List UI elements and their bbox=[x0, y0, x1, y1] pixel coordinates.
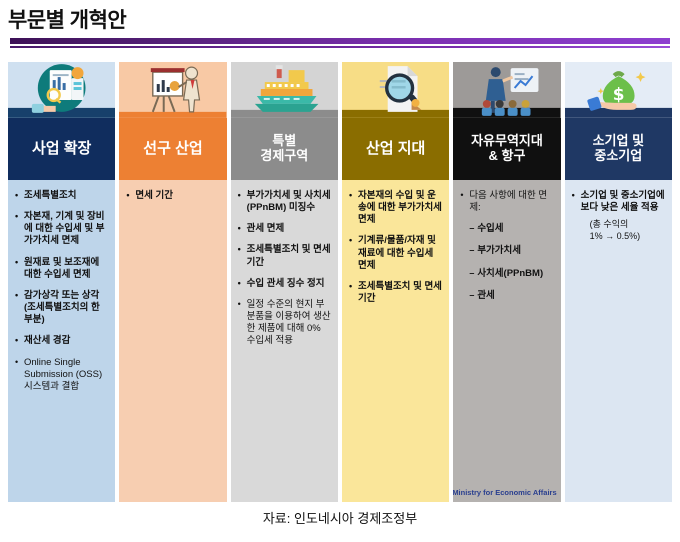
money-bag-hand-icon: $ bbox=[565, 62, 672, 118]
presenter-audience-icon bbox=[453, 62, 560, 118]
column-free-trade-zone-port[interactable]: 자유무역지대 & 항구 •다음 사항에 대한 면제: –수입세 –부가가치세 –… bbox=[453, 62, 560, 502]
list-item: •기계류/물품/자재 및 재료에 대한 수입세 면제 bbox=[349, 235, 442, 271]
column-industrial-zone[interactable]: 산업 지대 •자본재의 수입 및 운송에 대한 부가가치세 면제 •기계류/물품… bbox=[342, 62, 449, 502]
bullet-dot: • bbox=[15, 357, 24, 393]
bullet-dot: • bbox=[15, 257, 24, 281]
column-small-medium-enterprise[interactable]: $ 소기업 및 중소기업 •소기업 및 중소기업에 보다 낮은 세율 적용 (총… bbox=[565, 62, 672, 502]
list-item-text: 부가가치세 bbox=[477, 245, 553, 257]
column-header-business-expansion: 사업 확장 bbox=[8, 118, 115, 180]
column-special-economic-zone[interactable]: 특별 경제구역 •부가가치세 및 사치세(PPnBM) 미징수 •관세 면제 •… bbox=[231, 62, 338, 502]
columns-container: 사업 확장 •조세특별조치 •자본재, 기계 및 장비에 대한 수입세 및 부가… bbox=[8, 62, 672, 502]
svg-text:$: $ bbox=[612, 84, 624, 104]
list-item-text: 조세특별조치 및 면세 기간 bbox=[247, 244, 331, 268]
list-item-text: 다음 사항에 대한 면제: bbox=[469, 190, 553, 214]
list-item: •다음 사항에 대한 면제: bbox=[460, 190, 553, 214]
bullet-dot: • bbox=[15, 211, 24, 247]
list-item: –사치세(PPnBM) bbox=[469, 268, 553, 280]
column-body-industrial-zone: •자본재의 수입 및 운송에 대한 부가가치세 면제 •기계류/물품/자재 및 … bbox=[342, 180, 449, 502]
bullet-dot: • bbox=[15, 190, 24, 202]
column-header-industrial-zone: 산업 지대 bbox=[342, 118, 449, 180]
column-body-free-trade-zone-port: •다음 사항에 대한 면제: –수입세 –부가가치세 –사치세(PPnBM) –… bbox=[453, 180, 560, 502]
list-item: •조세특별조치 및 면세 기간 bbox=[349, 281, 442, 305]
column-header-pioneer-industry: 선구 산업 bbox=[119, 118, 226, 180]
source-note: Source: Coordinating Ministry for Econom… bbox=[453, 488, 556, 497]
list-item: •면세 기간 bbox=[126, 190, 219, 202]
column-header-small-medium-enterprise: 소기업 및 중소기업 bbox=[565, 118, 672, 180]
bullet-dot: • bbox=[238, 244, 247, 268]
list-item: •재산세 경감 bbox=[15, 335, 108, 347]
list-item-text: 수입 관세 징수 정지 bbox=[247, 278, 331, 290]
bullet-dot: • bbox=[349, 281, 358, 305]
list-item: •자본재의 수입 및 운송에 대한 부가가치세 면제 bbox=[349, 190, 442, 226]
column-pioneer-industry[interactable]: 선구 산업 •면세 기간 bbox=[119, 62, 226, 502]
list-item-text: 소기업 및 중소기업에 보다 낮은 세율 적용 bbox=[581, 190, 665, 214]
list-item-text: 자본재, 기계 및 장비에 대한 수입세 및 부가가치세 면제 bbox=[24, 211, 108, 247]
presentation-easel-icon bbox=[119, 62, 226, 118]
column-header-free-trade-zone-port: 자유무역지대 & 항구 bbox=[453, 118, 560, 180]
list-item-text: 원재료 및 보조재에 대한 수입세 면제 bbox=[24, 257, 108, 281]
list-item: •조세특별조치 및 면세 기간 bbox=[238, 244, 331, 268]
column-body-special-economic-zone: •부가가치세 및 사치세(PPnBM) 미징수 •관세 면제 •조세특별조치 및… bbox=[231, 180, 338, 502]
dash-bullet: – bbox=[469, 223, 477, 235]
title-divider-thin bbox=[10, 46, 670, 48]
bullet-dot: • bbox=[572, 190, 581, 214]
bullet-dot: • bbox=[238, 190, 247, 214]
bullet-dot: • bbox=[15, 335, 24, 347]
column-business-expansion[interactable]: 사업 확장 •조세특별조치 •자본재, 기계 및 장비에 대한 수입세 및 부가… bbox=[8, 62, 115, 502]
list-item: •감가상각 또는 상각(조세특별조치의 한 부분) bbox=[15, 290, 108, 326]
list-item-text: 수입세 bbox=[477, 223, 553, 235]
list-item-text: 사치세(PPnBM) bbox=[477, 268, 553, 280]
list-item-text: Online Single Submission (OSS) 시스템과 결합 bbox=[24, 357, 108, 393]
bullet-dot: • bbox=[238, 278, 247, 290]
dash-bullet: – bbox=[469, 245, 477, 257]
bullet-dot: • bbox=[238, 299, 247, 348]
list-item: •소기업 및 중소기업에 보다 낮은 세율 적용 bbox=[572, 190, 665, 214]
list-item: •조세특별조치 bbox=[15, 190, 108, 202]
dash-bullet: – bbox=[469, 268, 477, 280]
document-magnifier-icon bbox=[342, 62, 449, 118]
business-analytics-icon bbox=[8, 62, 115, 118]
list-item-text: 부가가치세 및 사치세(PPnBM) 미징수 bbox=[247, 190, 331, 214]
bullet-dot: • bbox=[238, 223, 247, 235]
list-item: •원재료 및 보조재에 대한 수입세 면제 bbox=[15, 257, 108, 281]
list-item-text: 자본재의 수입 및 운송에 대한 부가가치세 면제 bbox=[358, 190, 442, 226]
list-item-text: 관세 면제 bbox=[247, 223, 331, 235]
title-divider-thick bbox=[10, 38, 670, 44]
list-item-text: 일정 수준의 현지 부분품을 이용하여 생산한 제품에 대해 0% 수입세 적용 bbox=[247, 299, 331, 348]
list-item: •수입 관세 징수 정지 bbox=[238, 278, 331, 290]
figure-caption: 자료: 인도네시아 경제조정부 bbox=[0, 508, 680, 527]
cargo-ship-icon bbox=[231, 62, 338, 118]
list-item-text: 조세특별조치 및 면세 기간 bbox=[358, 281, 442, 305]
column-header-special-economic-zone: 특별 경제구역 bbox=[231, 118, 338, 180]
rate-change-note: (총 수익의 1% → 0.5%) bbox=[590, 219, 665, 242]
list-item: •자본재, 기계 및 장비에 대한 수입세 및 부가가치세 면제 bbox=[15, 211, 108, 247]
list-item-text: 관세 bbox=[477, 290, 553, 302]
list-item-text: 재산세 경감 bbox=[24, 335, 108, 347]
column-body-pioneer-industry: •면세 기간 bbox=[119, 180, 226, 502]
list-item: •일정 수준의 현지 부분품을 이용하여 생산한 제품에 대해 0% 수입세 적… bbox=[238, 299, 331, 348]
list-item: –관세 bbox=[469, 290, 553, 302]
title-divider bbox=[10, 38, 670, 48]
bullet-dot: • bbox=[460, 190, 469, 214]
list-item: •Online Single Submission (OSS) 시스템과 결합 bbox=[15, 357, 108, 393]
column-body-small-medium-enterprise: •소기업 및 중소기업에 보다 낮은 세율 적용 (총 수익의 1% → 0.5… bbox=[565, 180, 672, 502]
slide-root: 부문별 개혁안 bbox=[0, 0, 680, 542]
list-item-text: 조세특별조치 bbox=[24, 190, 108, 202]
bullet-dot: • bbox=[349, 235, 358, 271]
column-body-business-expansion: •조세특별조치 •자본재, 기계 및 장비에 대한 수입세 및 부가가치세 면제… bbox=[8, 180, 115, 502]
list-item-text: 면세 기간 bbox=[135, 190, 219, 202]
bullet-dot: • bbox=[126, 190, 135, 202]
list-item-text: 기계류/물품/자재 및 재료에 대한 수입세 면제 bbox=[358, 235, 442, 271]
bullet-dot: • bbox=[349, 190, 358, 226]
list-item: –수입세 bbox=[469, 223, 553, 235]
page-title: 부문별 개혁안 bbox=[8, 4, 126, 34]
dash-bullet: – bbox=[469, 290, 477, 302]
list-item: •부가가치세 및 사치세(PPnBM) 미징수 bbox=[238, 190, 331, 214]
list-item: •관세 면제 bbox=[238, 223, 331, 235]
list-item: –부가가치세 bbox=[469, 245, 553, 257]
list-item-text: 감가상각 또는 상각(조세특별조치의 한 부분) bbox=[24, 290, 108, 326]
bullet-dot: • bbox=[15, 290, 24, 326]
